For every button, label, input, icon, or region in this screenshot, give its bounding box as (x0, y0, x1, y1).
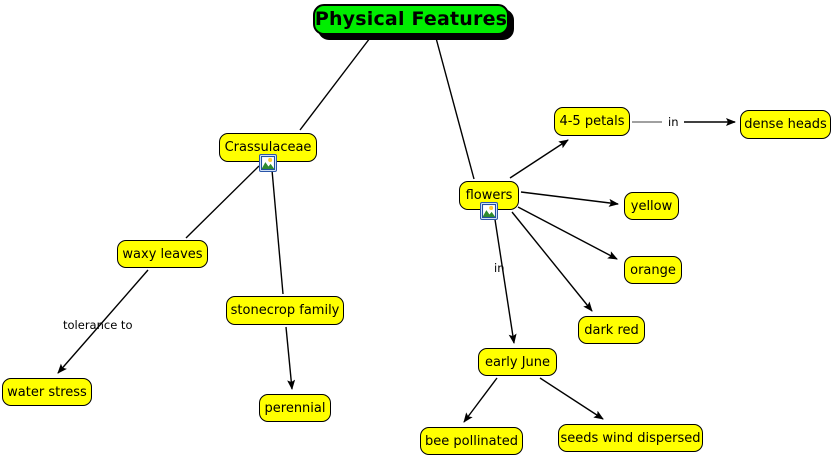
picture-icon[interactable] (480, 202, 498, 220)
node-label: Physical Features (315, 10, 507, 29)
node-label: early June (485, 356, 550, 369)
concept-map-canvas: Physical FeaturesCrassulaceaewaxy leaves… (0, 0, 834, 458)
node-label: bee pollinated (425, 435, 518, 448)
edge-june-to-seeds (540, 378, 603, 419)
link-label-lbl-in-june: in (494, 263, 504, 275)
node-stonecrop[interactable]: stonecrop family (226, 296, 344, 325)
node-june[interactable]: early June (478, 348, 557, 376)
edge-flowers-to-darkred (512, 212, 592, 311)
node-waxy[interactable]: waxy leaves (117, 240, 208, 268)
node-darkred[interactable]: dark red (578, 316, 645, 344)
node-seeds[interactable]: seeds wind dispersed (558, 424, 703, 452)
edge-flowers-to-june (494, 213, 514, 343)
node-label: Crassulaceae (225, 141, 312, 154)
edge-crassulaceae-to-stonecrop (272, 170, 283, 294)
node-label: dense heads (744, 118, 827, 131)
link-label-lbl-in-dense: in (668, 117, 678, 129)
edge-layer (0, 0, 834, 458)
node-label: dark red (584, 324, 639, 337)
node-label: waxy leaves (122, 248, 202, 261)
node-yellow[interactable]: yellow (624, 192, 679, 220)
node-label: 4-5 petals (559, 115, 624, 128)
node-label: yellow (631, 200, 673, 213)
node-label: perennial (265, 402, 326, 415)
link-label-lbl-tolerance: tolerance to (63, 320, 132, 332)
node-label: orange (630, 264, 676, 277)
node-label: seeds wind dispersed (560, 432, 700, 445)
edge-title-to-crassulaceae (300, 38, 370, 130)
node-title[interactable]: Physical Features (313, 4, 509, 35)
picture-icon[interactable] (259, 154, 277, 172)
edge-flowers-to-petals (510, 140, 568, 178)
node-petals[interactable]: 4-5 petals (554, 107, 630, 136)
node-water[interactable]: water stress (2, 378, 92, 406)
node-dense[interactable]: dense heads (740, 110, 831, 139)
node-label: flowers (466, 189, 513, 202)
node-bee[interactable]: bee pollinated (420, 427, 523, 455)
edge-june-to-bee (464, 378, 497, 422)
edge-stonecrop-to-perennial (286, 327, 292, 389)
edge-crassulaceae-to-waxy (186, 166, 259, 238)
node-label: water stress (7, 386, 87, 399)
edge-flowers-to-yellow (521, 192, 618, 204)
edge-title-to-flowers (436, 38, 474, 179)
node-perennial[interactable]: perennial (259, 394, 331, 422)
node-label: stonecrop family (231, 304, 340, 317)
node-orange[interactable]: orange (624, 256, 682, 284)
edge-flowers-to-orange (518, 207, 617, 259)
